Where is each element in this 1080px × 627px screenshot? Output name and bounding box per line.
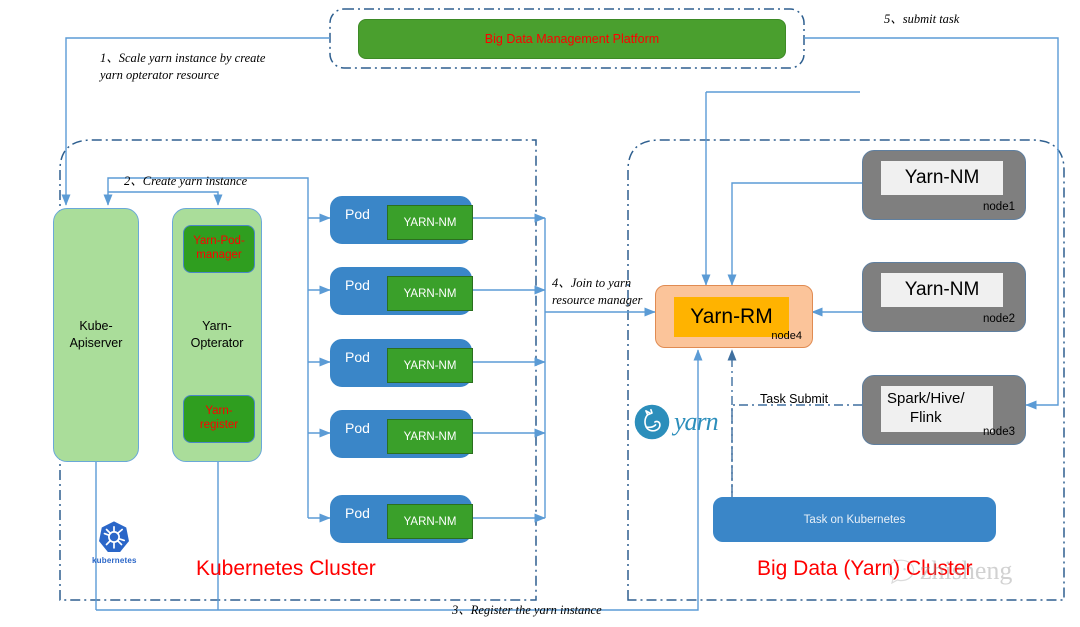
task-submit-label: Task Submit [760,392,828,406]
pod-label: Pod [345,420,370,436]
node3-service-label: Spark/Hive/ Flink [881,386,993,432]
yarn-rm-node-label: node4 [771,330,802,342]
node3-name-label: node3 [983,426,1015,438]
task-on-kubernetes-label: Task on Kubernetes [804,514,906,526]
pod-3[interactable]: Pod YARN-NM [330,339,472,387]
yarn-nm-box[interactable]: YARN-NM [387,348,473,383]
yarn-logo: yarn [634,404,718,440]
yarn-logo-caption: yarn [674,407,718,437]
diagram-canvas: Big Data Management Platform Kube- Apise… [0,0,1080,627]
kube-apiserver-box[interactable]: Kube- Apiserver [53,208,139,462]
flow-label-3: 3、Register the yarn instance [452,602,712,619]
yarn-operator-box[interactable]: Yarn- Opterator Yarn-Pod- manager Yarn- … [172,208,262,462]
big-data-cluster-title: Big Data (Yarn) Cluster [757,557,973,581]
task-on-kubernetes-box[interactable]: Task on Kubernetes [713,497,996,542]
flow-label-1: 1、Scale yarn instance by create yarn opt… [100,50,315,84]
yarn-register-chip[interactable]: Yarn- register [183,395,255,443]
node1-name-label: node1 [983,201,1015,213]
node3-box[interactable]: Spark/Hive/ Flink node3 [862,375,1026,445]
flow-label-4: 4、Join to yarn resource manager [552,275,672,309]
yarn-pod-manager-chip[interactable]: Yarn-Pod- manager [183,225,255,273]
yarn-operator-label: Yarn- Opterator [191,318,244,352]
pod-5[interactable]: Pod YARN-NM [330,495,472,543]
pod-label: Pod [345,277,370,293]
big-data-management-platform-box[interactable]: Big Data Management Platform [358,19,786,59]
node1-service-label: Yarn-NM [881,161,1003,195]
yarn-nm-box[interactable]: YARN-NM [387,276,473,311]
node2-service-label: Yarn-NM [881,273,1003,307]
pod-label: Pod [345,505,370,521]
kubernetes-logo-caption: kubernetes [92,556,137,565]
kubernetes-cluster-title: Kubernetes Cluster [196,557,376,581]
yarn-nm-box[interactable]: YARN-NM [387,419,473,454]
kube-apiserver-label: Kube- Apiserver [70,318,123,352]
yarn-nm-box[interactable]: YARN-NM [387,205,473,240]
flow-label-5: 5、submit task [884,11,1044,28]
pod-2[interactable]: Pod YARN-NM [330,267,472,315]
kubernetes-logo-icon [97,520,131,554]
yarn-register-label: Yarn- register [200,405,238,433]
node2-box[interactable]: Yarn-NM node2 [862,262,1026,332]
yarn-rm-box[interactable]: Yarn-RM node4 [655,285,813,348]
pod-label: Pod [345,206,370,222]
node1-box[interactable]: Yarn-NM node1 [862,150,1026,220]
yarn-cat-logo-icon [634,404,670,440]
platform-label: Big Data Management Platform [485,32,659,46]
yarn-nm-box[interactable]: YARN-NM [387,504,473,539]
flow-label-2: 2、Create yarn instance [124,173,334,190]
pod-4[interactable]: Pod YARN-NM [330,410,472,458]
pod-label: Pod [345,349,370,365]
kubernetes-logo: kubernetes [92,520,137,565]
node2-name-label: node2 [983,313,1015,325]
yarn-pod-manager-label: Yarn-Pod- manager [193,235,245,263]
pod-1[interactable]: Pod YARN-NM [330,196,472,244]
